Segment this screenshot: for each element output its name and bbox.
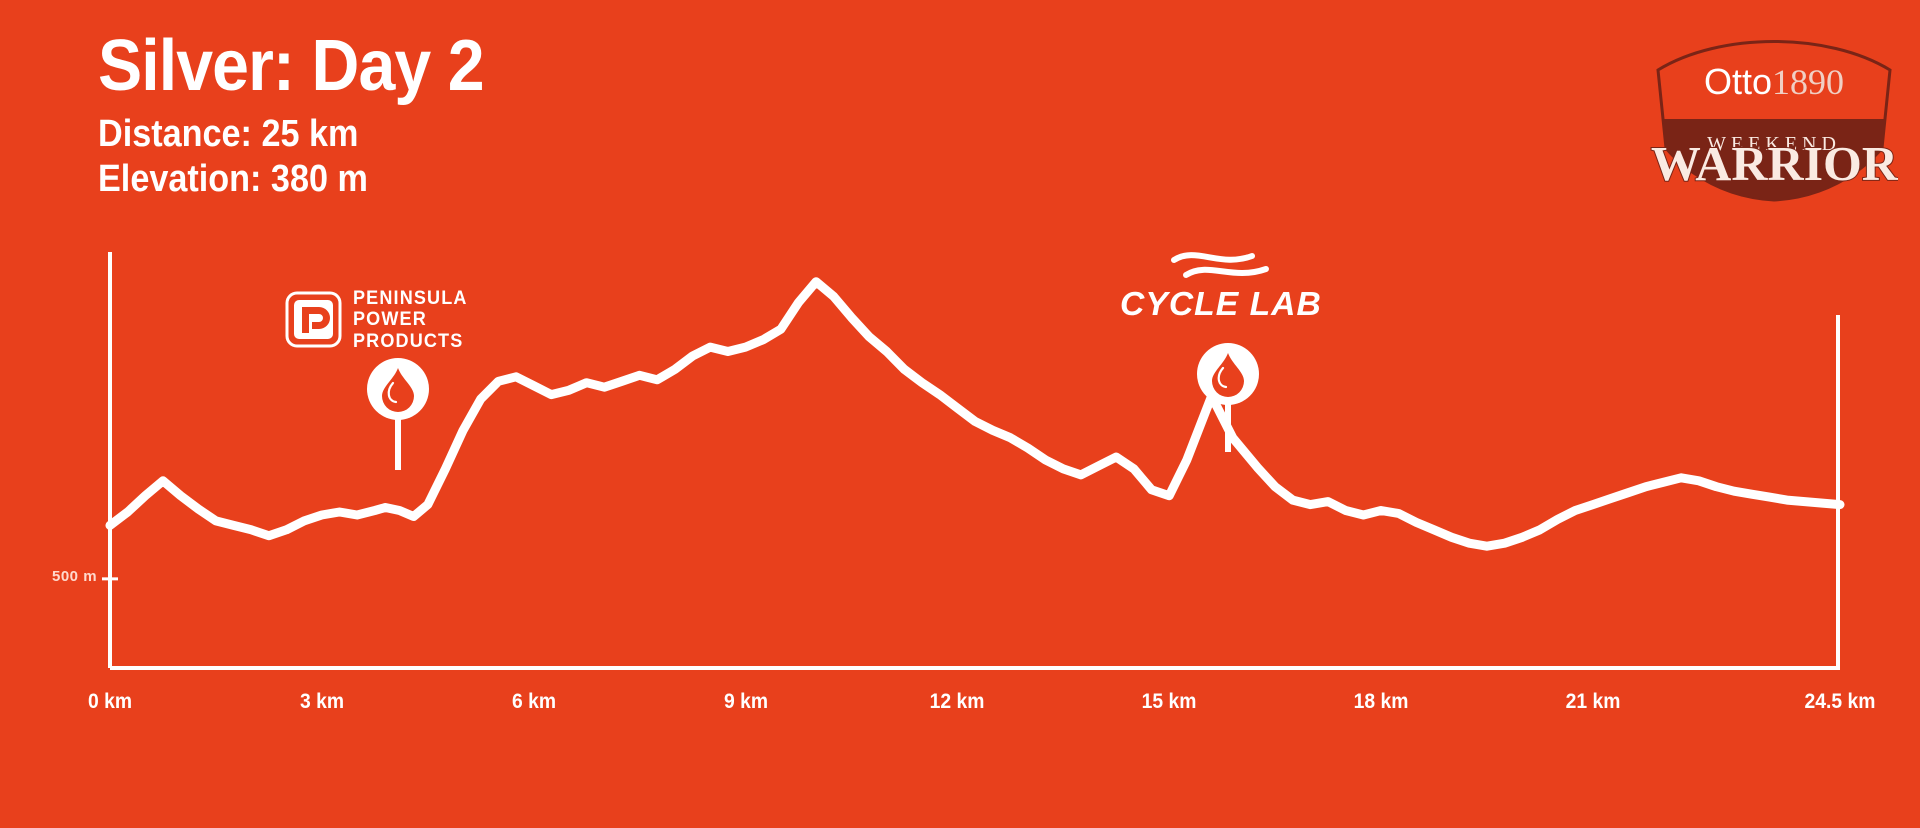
x-axis-tick-label: 3 km [300, 690, 344, 714]
x-axis-tick-label: 21 km [1565, 690, 1620, 714]
x-axis-tick-label: 6 km [512, 690, 556, 714]
peninsula-p-mark-icon [285, 291, 342, 348]
x-axis-tick-label: 12 km [930, 690, 985, 714]
sponsor-cycle-lab: CYCLE LAB [1122, 248, 1320, 320]
x-axis-tick-label: 0 km [88, 690, 132, 714]
cycle-lab-wordmark: CYCLE LAB [1120, 287, 1322, 320]
poster-canvas: Silver: Day 2 Distance: 25 km Elevation:… [0, 0, 1920, 828]
peninsula-line-1: PENINSULA [353, 288, 468, 309]
x-axis-tick-labels: 0 km3 km6 km9 km12 km15 km18 km21 km24.5… [0, 690, 1920, 720]
y-axis-tick-label: 500 m [52, 568, 97, 585]
x-axis-tick-label: 18 km [1354, 690, 1409, 714]
peninsula-line-3: PRODUCTS [353, 331, 468, 352]
cycle-lab-swoosh-icon [1168, 248, 1273, 282]
peninsula-line-2: POWER [353, 309, 468, 330]
x-axis-tick-label: 9 km [723, 690, 767, 714]
sponsor-peninsula-power-products: PENINSULA POWER PRODUCTS [285, 288, 474, 352]
peninsula-wordmark: PENINSULA POWER PRODUCTS [353, 288, 468, 352]
x-axis-tick-label: 15 km [1142, 690, 1197, 714]
x-axis-tick-label: 24.5 km [1805, 690, 1876, 714]
elevation-profile-chart: 500 m 0 km3 km6 km9 km12 km15 km18 km21 … [0, 0, 1920, 828]
